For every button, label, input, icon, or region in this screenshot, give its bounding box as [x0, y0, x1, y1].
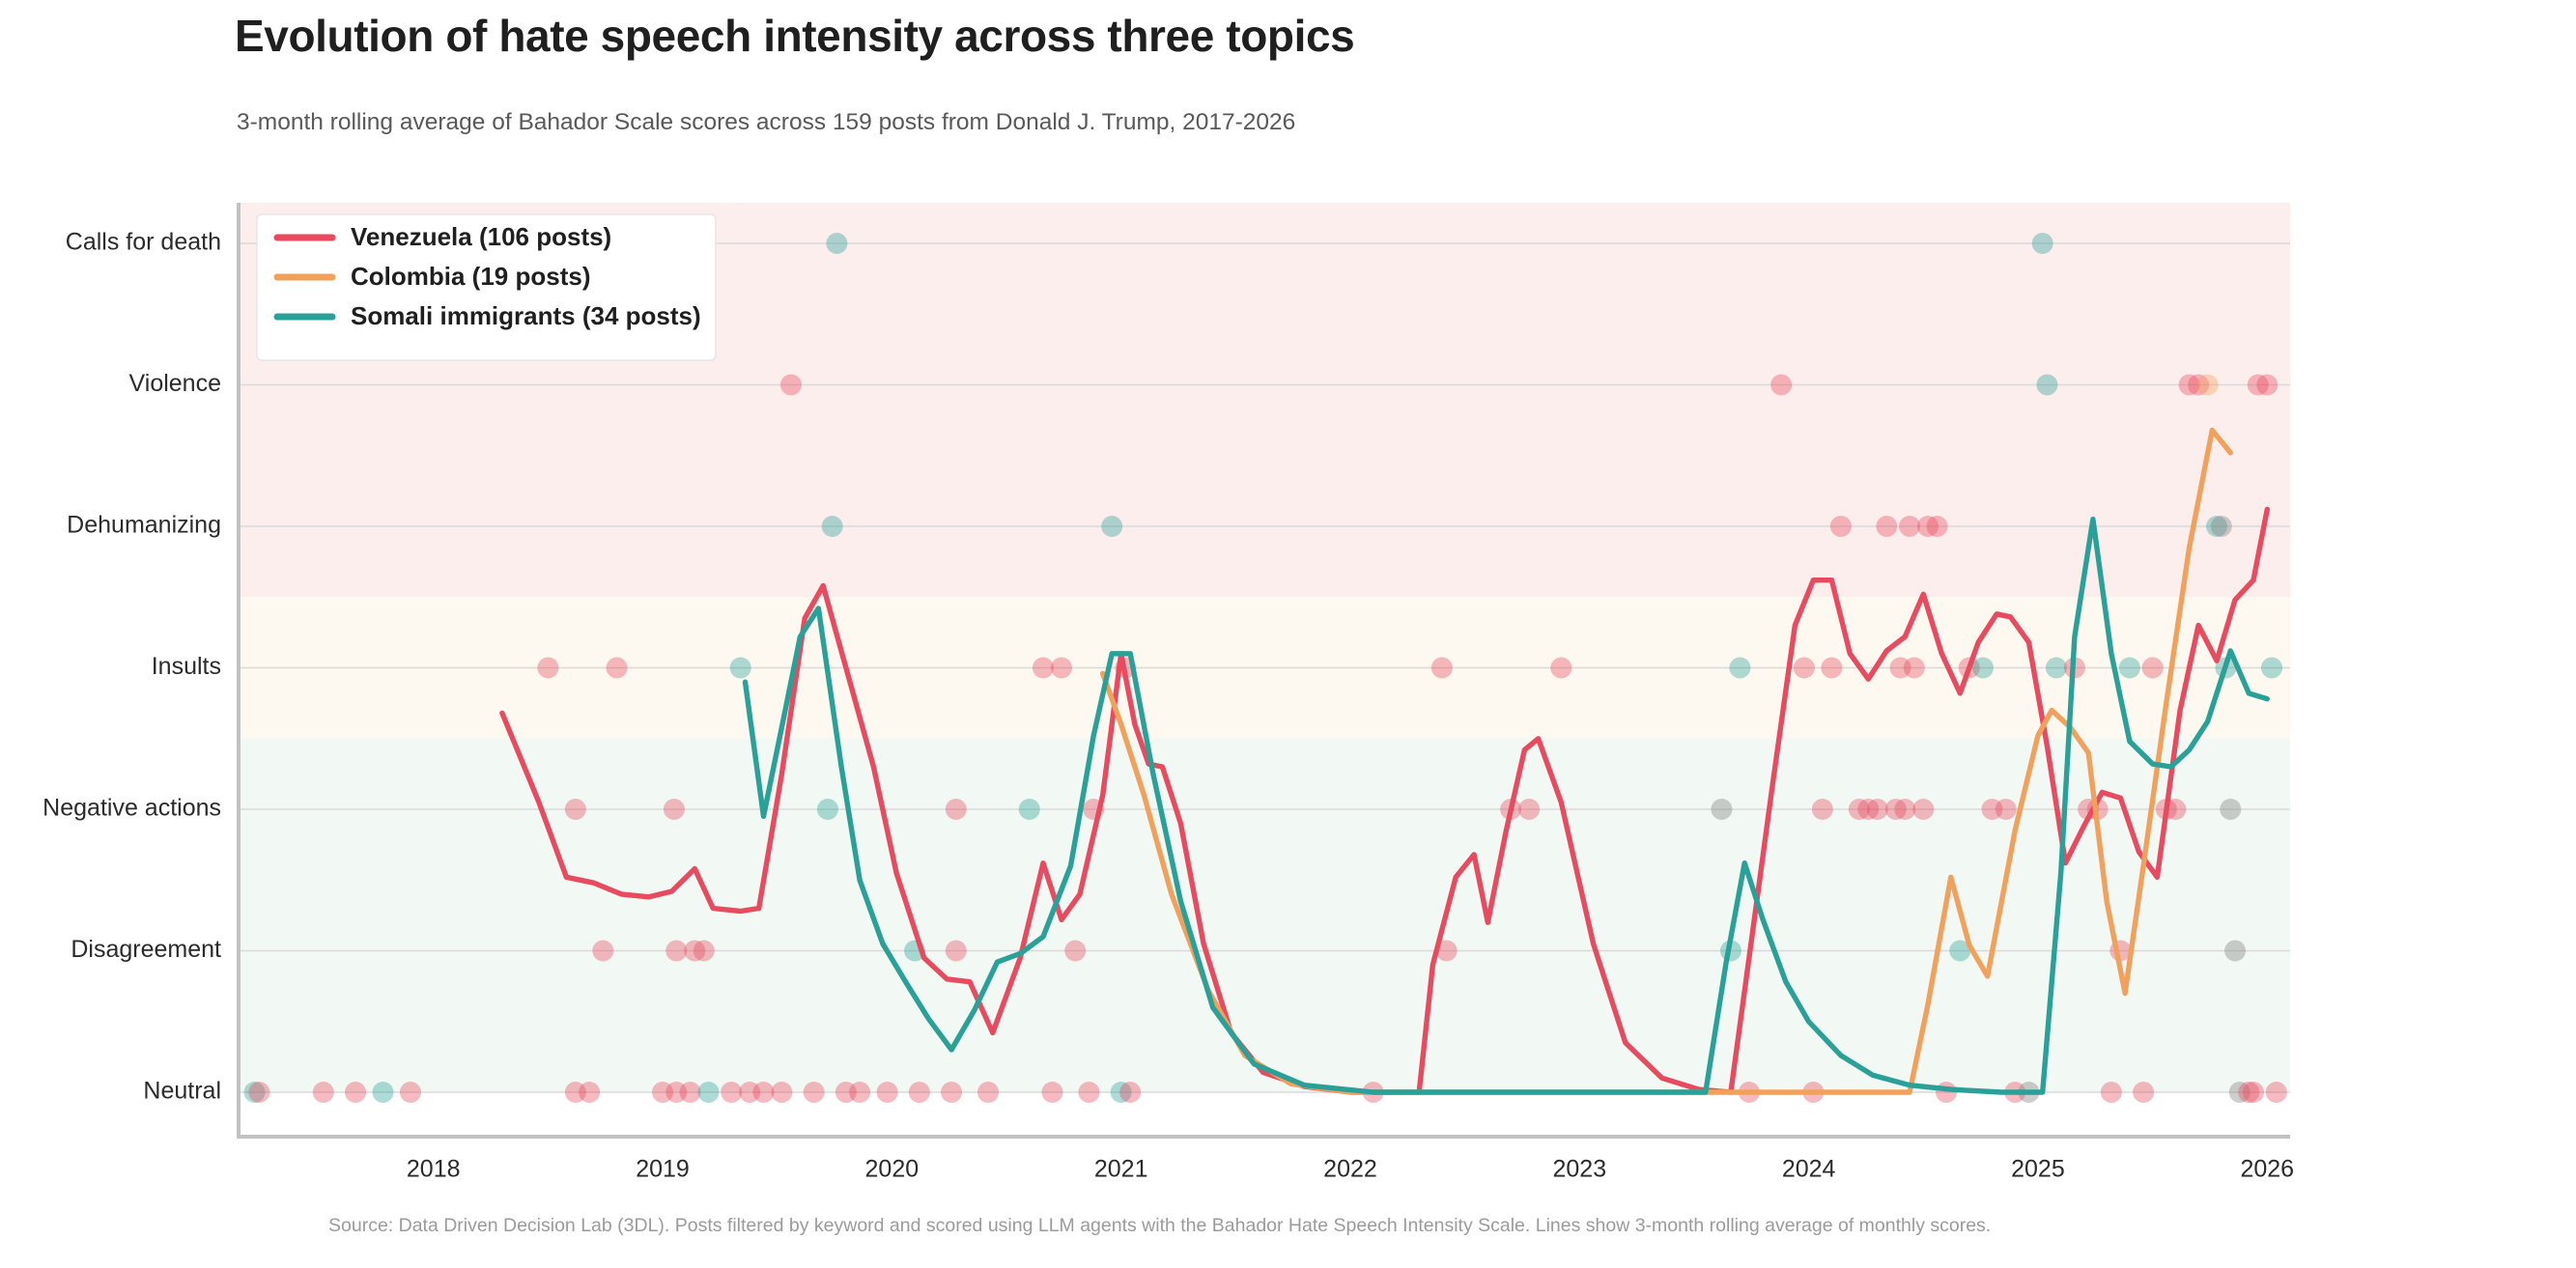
scatter-point [592, 941, 613, 962]
legend-item-label: Somali immigrants (34 posts) [351, 301, 701, 330]
scatter-point [977, 1082, 999, 1103]
chart-legend[interactable]: Venezuela (106 posts)Colombia (19 posts)… [257, 214, 716, 360]
line-chart-plot: NeutralDisagreementNegative actionsInsul… [0, 0, 2576, 1268]
scatter-point [804, 1082, 825, 1103]
scatter-point [248, 1082, 269, 1103]
x-tick-label: 2023 [1553, 1156, 1607, 1183]
scatter-point [1019, 799, 1040, 820]
scatter-point [607, 658, 628, 679]
scatter-point [2261, 658, 2282, 679]
scatter-point [1899, 516, 1920, 537]
scatter-point [849, 1082, 870, 1103]
scatter-point [1064, 941, 1086, 962]
scatter-point [752, 1082, 774, 1103]
scatter-point [2133, 1082, 2154, 1103]
scatter-point [313, 1082, 334, 1103]
scatter-point [400, 1082, 421, 1103]
scatter-point [665, 941, 687, 962]
scatter-point [1876, 516, 1897, 537]
scatter-point [1927, 516, 1948, 537]
scatter-point [698, 1082, 720, 1103]
scatter-point [730, 658, 751, 679]
scatter-point [771, 1082, 792, 1103]
band-low-band [239, 739, 2290, 1092]
scatter-point [1041, 1082, 1062, 1103]
scatter-point [2243, 1082, 2264, 1103]
x-tick-label: 2026 [2240, 1156, 2294, 1183]
x-tick-label: 2019 [636, 1156, 690, 1183]
scatter-point [1904, 658, 1925, 679]
scatter-point [822, 516, 843, 537]
scatter-point [1912, 799, 1934, 820]
scatter-point [780, 375, 802, 396]
scatter-point [1101, 516, 1122, 537]
scatter-point [2046, 658, 2067, 679]
legend-item-label: Colombia (19 posts) [351, 262, 590, 291]
legend-item-label: Venezuela (106 posts) [351, 222, 611, 251]
scatter-point [2119, 658, 2140, 679]
x-tick-label: 2020 [865, 1156, 920, 1183]
scatter-point [694, 941, 715, 962]
x-tick-label: 2021 [1094, 1156, 1148, 1183]
scatter-point [1119, 1082, 1141, 1103]
scatter-point [373, 1082, 394, 1103]
scatter-point [909, 1082, 930, 1103]
y-tick-label: Disagreement [71, 936, 221, 963]
scatter-point [721, 1082, 742, 1103]
scatter-point [1972, 658, 1994, 679]
y-tick-label: Calls for death [66, 229, 221, 256]
scatter-point [664, 799, 685, 820]
scatter-point [2211, 516, 2232, 537]
scatter-point [1996, 799, 2017, 820]
scatter-point [2032, 233, 2053, 254]
scatter-point [1894, 799, 1915, 820]
scatter-point [1078, 1082, 1099, 1103]
x-tick-label: 2018 [407, 1156, 461, 1183]
scatter-point [1794, 658, 1815, 679]
scatter-point [1830, 516, 1852, 537]
scatter-point [1550, 658, 1571, 679]
scatter-point [537, 658, 558, 679]
scatter-point [2266, 1082, 2287, 1103]
y-tick-label: Violence [129, 370, 221, 397]
scatter-point [1033, 658, 1054, 679]
scatter-point [1821, 658, 1842, 679]
scatter-point [1770, 375, 1792, 396]
x-tick-label: 2025 [2011, 1156, 2065, 1183]
y-tick-label: Dehumanizing [67, 512, 221, 539]
scatter-point [1431, 658, 1453, 679]
scatter-point [1812, 799, 1833, 820]
y-tick-label: Neutral [143, 1078, 221, 1105]
x-tick-label: 2024 [1782, 1156, 1836, 1183]
scatter-point [680, 1082, 701, 1103]
scatter-point [941, 1082, 962, 1103]
scatter-point [2101, 1082, 2122, 1103]
scatter-point [1518, 799, 1540, 820]
scatter-point [1729, 658, 1750, 679]
scatter-point [2197, 375, 2219, 396]
scatter-point [1867, 799, 1888, 820]
scatter-point [1051, 658, 1072, 679]
scatter-point [345, 1082, 366, 1103]
scatter-point [579, 1082, 600, 1103]
scatter-point [1936, 1082, 1957, 1103]
y-tick-label: Negative actions [42, 795, 221, 822]
y-axis-tick-labels: NeutralDisagreementNegative actionsInsul… [42, 229, 221, 1105]
y-tick-label: Insults [152, 653, 221, 680]
scatter-point [817, 799, 838, 820]
source-note: Source: Data Driven Decision Lab (3DL). … [328, 1215, 1991, 1237]
scatter-point [565, 799, 586, 820]
x-tick-label: 2022 [1323, 1156, 1377, 1183]
scatter-point [877, 1082, 898, 1103]
scatter-point [946, 799, 967, 820]
x-axis-tick-labels: 201820192020202120222023202420252026 [407, 1156, 2294, 1183]
scatter-point [2036, 375, 2057, 396]
scatter-point [1711, 799, 1732, 820]
scatter-point [826, 233, 847, 254]
scatter-point [2224, 941, 2246, 962]
scatter-point [2220, 799, 2241, 820]
scatter-point [2142, 658, 2164, 679]
scatter-point [946, 941, 967, 962]
chart-root: Evolution of hate speech intensity acros… [0, 0, 2576, 1268]
scatter-point [2256, 375, 2278, 396]
